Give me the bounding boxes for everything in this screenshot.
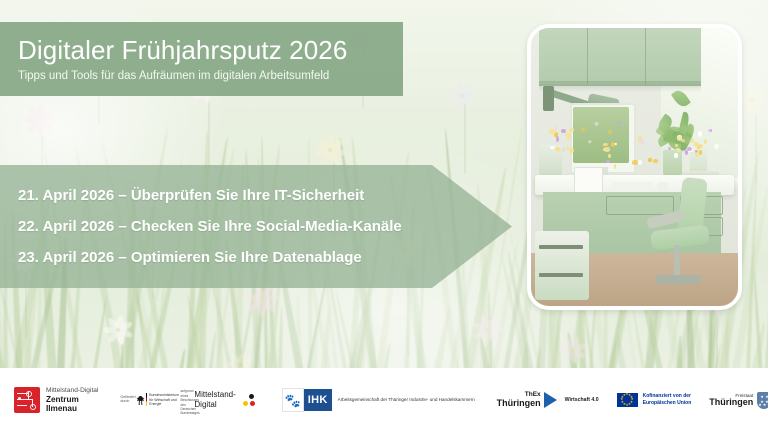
logo-thex-thueringen: ThEx Thüringen Wirtschaft 4.0	[497, 392, 599, 408]
federal-eagle-icon	[136, 393, 145, 404]
thex-line2: Thüringen	[497, 399, 541, 408]
logo-mdz-line3: Ilmenau	[46, 404, 98, 413]
photo-monitor-screen	[573, 107, 629, 163]
date-item-3: 23. April 2026 – Optimieren Sie Ihre Dat…	[18, 242, 512, 273]
bmwk-ministry-name: Bundesministerium für Wirtschaft und Ene…	[149, 393, 180, 407]
office-photo-card	[527, 24, 742, 310]
logo-ihk: 🐾 IHK Arbeitsgemeinschaft der Thüringer …	[282, 389, 475, 411]
thueringen-coat-of-arms-icon: ★★★★★★★	[757, 392, 768, 409]
photo-side-cabinet-handle	[539, 273, 582, 277]
eu-text: Kofinanziert von der Europäischen Union	[643, 393, 692, 407]
photo-cabinet-seam	[587, 28, 589, 84]
logo-md-line2: Digital	[194, 400, 235, 410]
photo-desk-lamp-base	[543, 86, 553, 111]
wirtschaft-40-label: Wirtschaft 4.0	[565, 397, 599, 403]
eu-line2: Europäischen Union	[643, 400, 692, 407]
photo-desk-drawer	[606, 196, 674, 215]
logo-md-line1: Mittelstand-	[194, 390, 235, 400]
page-title: Digitaler Frühjahrsputz 2026	[18, 35, 403, 65]
ihk-mark: 🐾 IHK	[282, 389, 332, 411]
thueringen-text: Freistaat Thüringen	[709, 393, 753, 408]
german-flag-icon	[146, 393, 147, 406]
photo-cabinet-seam	[645, 28, 647, 84]
ihk-subtitle: Arbeitsgemeinschaft der Thüringer Indust…	[338, 397, 475, 404]
logo-freistaat-thueringen: Freistaat Thüringen ★★★★★★★ Ministerium …	[709, 392, 768, 409]
md-dots-icon	[243, 394, 256, 407]
photo-vase	[663, 150, 682, 178]
ihk-lion-glyph: 🐾	[285, 394, 301, 407]
bmwk-funded-by-label: Gefördert durch	[120, 395, 135, 403]
logo-mdz-text: Mittelstand-Digital Zentrum Ilmenau	[46, 387, 98, 413]
photo-desk-calendar	[574, 167, 603, 194]
date-arrow-band: 21. April 2026 – Überprüfen Sie Ihre IT-…	[0, 165, 512, 288]
photo-mouse	[657, 182, 667, 190]
logo-md-text: Mittelstand- Digital	[194, 390, 235, 410]
sponsor-logo-bar: Mittelstand-Digital Zentrum Ilmenau Gefö…	[0, 368, 768, 432]
ihk-wordmark: IHK	[304, 389, 332, 411]
slide-canvas: Digitaler Frühjahrsputz 2026 Tipps und T…	[0, 0, 768, 432]
photo-keyboard	[612, 182, 653, 190]
logo-mittelstand-digital-zentrum-ilmenau: Mittelstand-Digital Zentrum Ilmenau	[14, 387, 98, 413]
photo-side-cabinet	[535, 231, 589, 301]
date-item-1: 21. April 2026 – Überprüfen Sie Ihre IT-…	[18, 180, 512, 211]
thex-text: ThEx Thüringen	[497, 392, 541, 408]
photo-upper-cabinet	[539, 28, 700, 86]
logo-mittelstand-digital: Mittelstand- Digital	[194, 390, 255, 410]
logo-eu-cofunded: ★★★★★★★★★★★★ Kofinanziert von der Europä…	[617, 393, 692, 407]
bmwk-row: Bundesministerium für Wirtschaft und Ene…	[136, 393, 181, 407]
logo-mdz-line2: Zentrum	[46, 395, 98, 404]
arrow-right-icon	[544, 392, 557, 408]
circuit-board-icon	[14, 387, 40, 413]
date-item-2: 22. April 2026 – Checken Sie Ihre Social…	[18, 211, 512, 242]
eu-line1: Kofinanziert von der	[643, 393, 692, 400]
ihk-lion-icon: 🐾	[282, 388, 304, 412]
logo-bmwk: Gefördert durch Bundesministerium für Wi…	[120, 384, 182, 416]
photo-chair-base	[655, 275, 701, 283]
thueringen-line2: Thüringen	[709, 398, 753, 408]
photo-chair-post	[674, 245, 680, 278]
photo-side-cabinet-handle	[539, 245, 582, 249]
title-banner: Digitaler Frühjahrsputz 2026 Tipps und T…	[0, 22, 403, 96]
page-subtitle: Tipps und Tools für das Aufräumen im dig…	[18, 69, 403, 84]
eu-flag-icon: ★★★★★★★★★★★★	[617, 393, 638, 407]
logo-mdz-line1: Mittelstand-Digital	[46, 387, 98, 394]
